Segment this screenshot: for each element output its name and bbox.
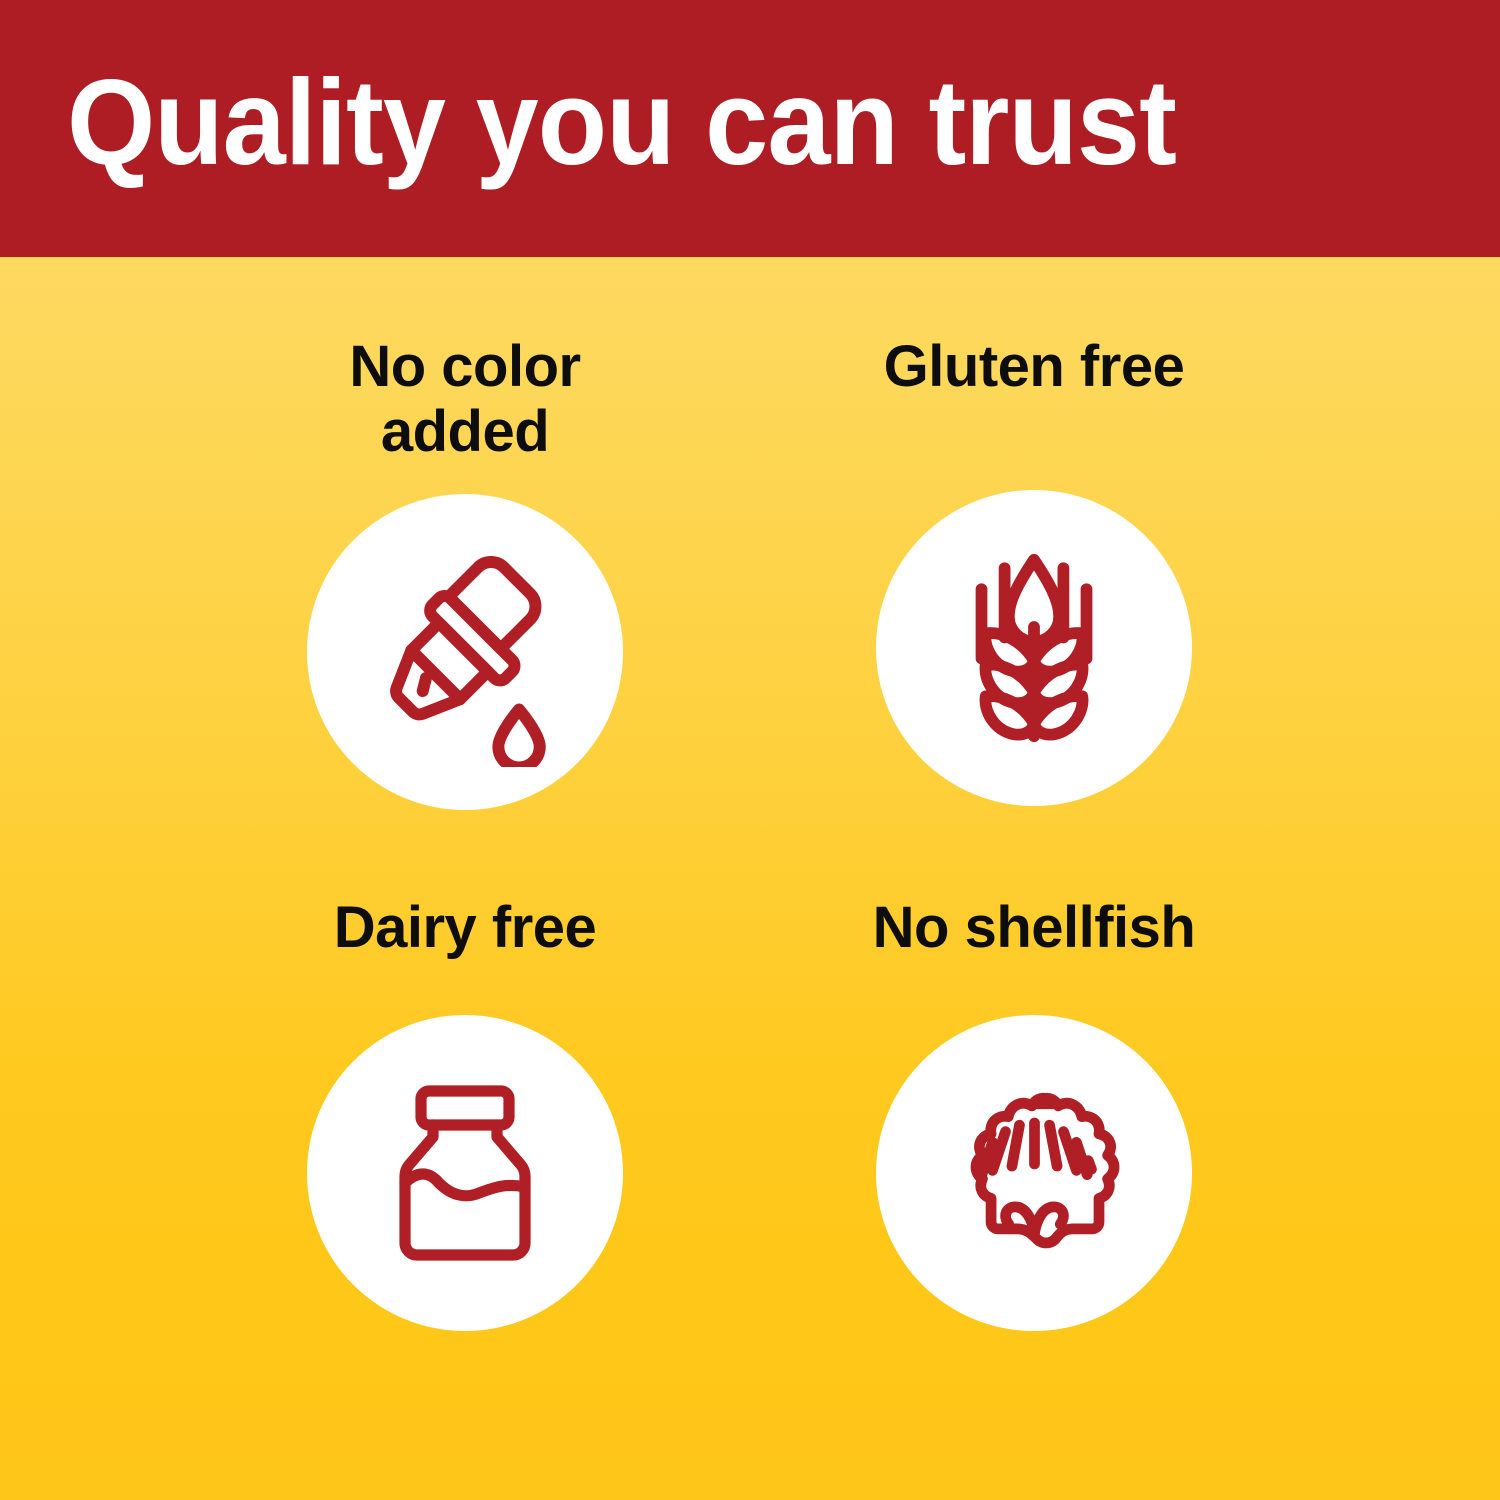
- badge-label-line-1: No shellfish: [734, 896, 1334, 961]
- badge-label-line-1: Dairy free: [165, 896, 765, 961]
- badge-no-shellfish: No shellfish: [734, 896, 1334, 1331]
- badge-label: No color added: [265, 335, 665, 465]
- badge-icon-circle: [876, 490, 1192, 806]
- badge-gluten-free: Gluten free: [734, 335, 1334, 806]
- milk-bottle-icon: [365, 1073, 565, 1273]
- badge-icon-circle: [307, 494, 623, 810]
- badge-label-line-1: Gluten free: [734, 335, 1334, 400]
- badge-label-line-2: added: [265, 400, 665, 465]
- badge-icon-circle: [876, 1015, 1192, 1331]
- page-title: Quality you can trust: [0, 61, 1176, 197]
- badge-label: Gluten free: [734, 335, 1334, 400]
- badge-label-line-1: No color: [265, 335, 665, 400]
- shell-icon: [927, 1065, 1142, 1280]
- badge-dairy-free: Dairy free: [165, 896, 765, 1331]
- badge-label: Dairy free: [165, 896, 765, 961]
- wheat-icon: [929, 543, 1139, 753]
- badge-grid: No color added: [0, 257, 1500, 1500]
- promo-graphic: Quality you can trust No color added: [0, 0, 1500, 1500]
- dropper-icon: [350, 537, 580, 767]
- badge-icon-circle: [307, 1015, 623, 1331]
- badge-no-color-added: No color added: [165, 335, 765, 810]
- badge-label: No shellfish: [734, 896, 1334, 961]
- header-band: Quality you can trust: [0, 0, 1500, 257]
